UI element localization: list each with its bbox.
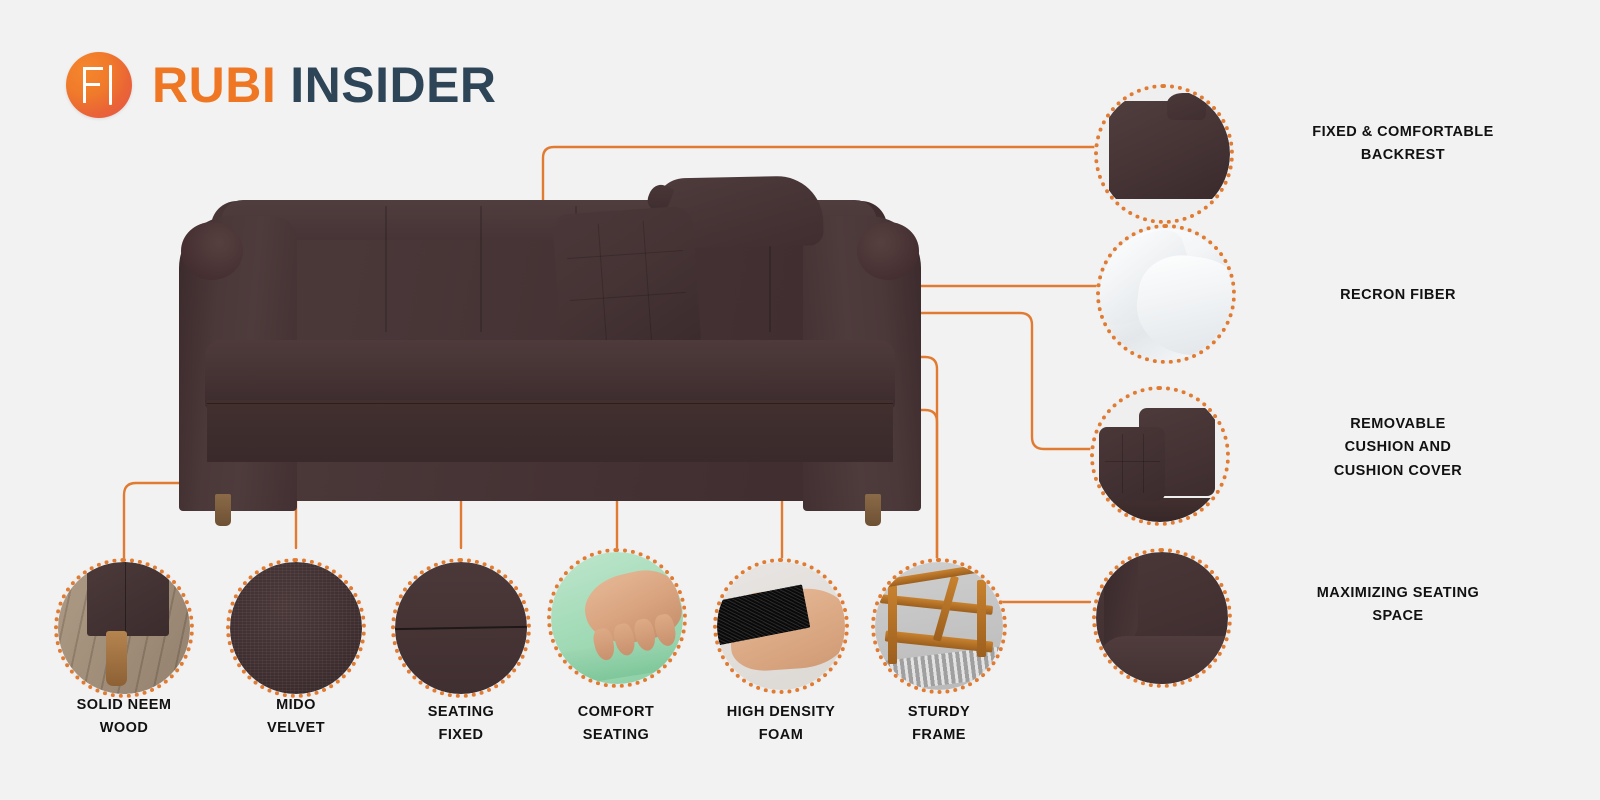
brand-word-insider: INSIDER [290,57,496,113]
brand-word-rubi: RUBI [152,57,276,113]
brand-header: RUBIINSIDER [66,52,497,118]
seating-space-thumbnail[interactable] [1092,548,1232,688]
hand-pressing-green-foam-thumbnail[interactable] [547,548,687,688]
sofa-leg-right [865,494,881,526]
velvet-fabric-thumbnail[interactable] [226,558,366,698]
sofa-leg-left [215,494,231,526]
fi-monogram-icon [66,52,132,118]
cushion-pair-thumbnail[interactable] [1090,386,1230,526]
callout-label-recron-fiber: RECRON FIBER [1248,284,1548,307]
fixed-seat-thumbnail[interactable] [391,558,531,698]
logo-f-glyph [83,67,101,103]
wooden-frame-springs-thumbnail[interactable] [871,558,1007,694]
logo-i-glyph [109,65,112,105]
sofa-base [207,400,893,462]
sofa-backrest-thumbnail[interactable] [1094,84,1234,224]
infographic-canvas: RUBIINSIDER [0,0,1600,800]
callout-label-removable-cushion: REMOVABLE CUSHION AND CUSHION COVER [1248,413,1548,483]
callout-label-sturdy-frame: STURDY FRAME [819,701,1059,748]
sofa-seat [205,340,895,408]
page-title: RUBIINSIDER [152,60,497,110]
wooden-leg-on-floor-thumbnail[interactable] [54,558,194,698]
white-fiber-thumbnail[interactable] [1096,224,1236,364]
hand-holding-black-foam-thumbnail[interactable] [713,558,849,694]
callout-label-fixed-comfortable-backrest: FIXED & COMFORTABLE BACKREST [1248,121,1558,168]
callout-label-maximizing-seating-space: MAXIMIZING SEATING SPACE [1248,582,1548,629]
sofa-illustration [175,172,923,502]
